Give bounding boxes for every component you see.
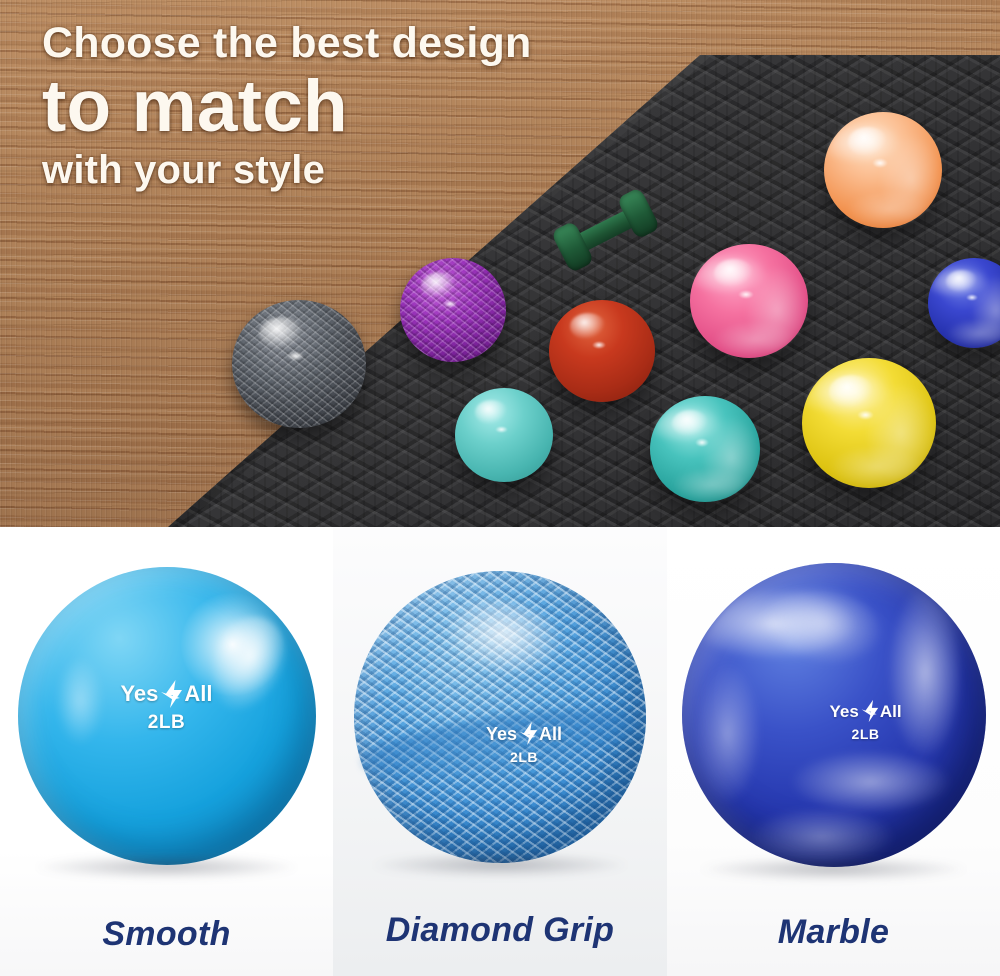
product-panel-marble: Yes All 2LB Mar	[667, 527, 1000, 976]
ball-specular	[695, 438, 709, 446]
hero-photo: Choose the best design to match with you…	[0, 0, 1000, 527]
product-panel-smooth: Yes All 2LB Smo	[0, 527, 333, 976]
headline-line-3: with your style	[42, 149, 531, 191]
ball-specular	[872, 158, 887, 167]
ball-specular	[495, 426, 508, 434]
smooth-toning-ball: Yes All 2LB	[18, 567, 316, 865]
marble-swirl	[802, 358, 936, 488]
brand-four-icon	[159, 679, 183, 709]
gray-textured-ball	[232, 300, 366, 428]
red-smooth-ball	[549, 300, 655, 402]
marble-swirl	[690, 244, 808, 358]
ball-sheen	[570, 313, 606, 340]
teal-smooth-ball	[455, 388, 553, 482]
ball-texture	[232, 300, 366, 428]
headline-line-1: Choose the best design	[42, 22, 531, 66]
teal-marble-ball	[650, 396, 760, 502]
ball-sheen	[848, 127, 888, 157]
ball-texture	[400, 258, 506, 362]
ball-highlight-primary	[192, 604, 302, 727]
caption-marble: Marble	[667, 913, 1000, 952]
ball-specular	[966, 294, 978, 301]
product-variant-strip: Yes All 2LB Smo	[0, 527, 1000, 976]
ball-sheen	[829, 375, 875, 409]
ball-specular	[738, 290, 753, 299]
headline: Choose the best design to match with you…	[42, 22, 531, 191]
caption-smooth: Smooth	[0, 915, 333, 954]
marble-swirl	[650, 396, 760, 502]
ball-drop-shadow	[700, 857, 968, 881]
diamond-grip-toning-ball: Yes All 2LB	[354, 571, 646, 863]
ball-drop-shadow	[372, 853, 629, 877]
ball-sheen	[946, 270, 977, 293]
ball-sheen	[714, 259, 754, 289]
brand-name-part1: Yes	[120, 683, 158, 705]
yellow-marble-ball	[802, 358, 936, 488]
marble-swirl	[824, 112, 942, 228]
headline-line-2: to match	[42, 68, 531, 145]
ball-specular	[443, 300, 457, 308]
product-marketing-image: Choose the best design to match with you…	[0, 0, 1000, 976]
marble-toning-ball: Yes All 2LB	[682, 563, 986, 867]
ball-sheen	[475, 400, 508, 424]
ball-drop-shadow	[35, 855, 297, 879]
purple-textured-ball	[400, 258, 506, 362]
ball-sheen	[259, 317, 305, 350]
pink-marble-ball	[690, 244, 808, 358]
product-panel-diamond-grip: Yes All 2LB Dia	[333, 527, 667, 976]
ball-sheen	[421, 272, 457, 299]
peach-marble-ball	[824, 112, 942, 228]
ball-weight-label: 2LB	[148, 712, 185, 734]
ball-specular	[592, 341, 606, 349]
caption-diamond-grip: Diamond Grip	[333, 911, 667, 950]
ball-highlight-secondary	[56, 656, 104, 745]
